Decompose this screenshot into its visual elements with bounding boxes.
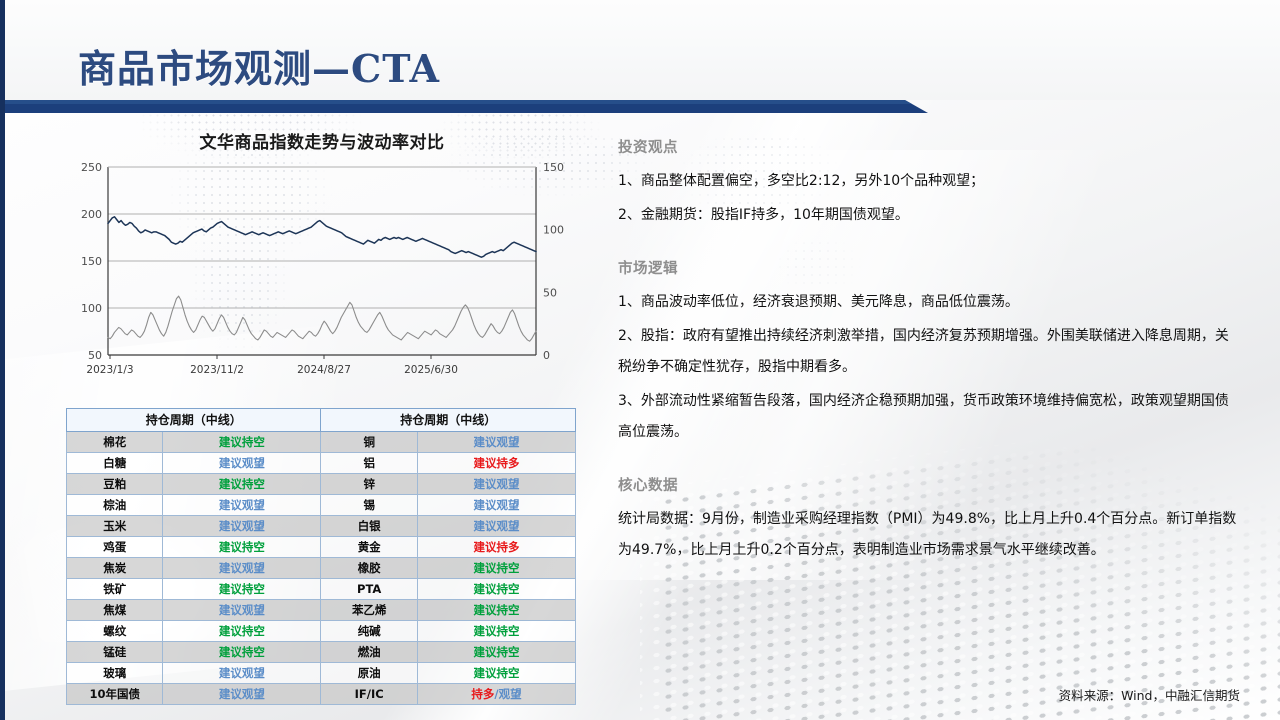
cell-recommendation: 建议持空 xyxy=(163,537,321,558)
cell-recommendation: 建议观望 xyxy=(163,600,321,621)
table-row: 豆粕建议持空锌建议观望 xyxy=(67,474,576,495)
slide-root: 商品市场观测—CTA 文华商品指数走势与波动率对比 50100150200250… xyxy=(0,0,1280,720)
cell-commodity-name: 棉花 xyxy=(67,432,163,453)
cell-commodity-name: 锰硅 xyxy=(67,642,163,663)
table-row: 白糖建议观望铝建议持多 xyxy=(67,453,576,474)
cell-commodity-name: 橡胶 xyxy=(321,558,418,579)
cell-recommendation: 建议持空 xyxy=(417,642,575,663)
left-accent-rail xyxy=(0,0,5,720)
table-row: 玉米建议观望白银建议观望 xyxy=(67,516,576,537)
cell-recommendation: 持多/观望 xyxy=(417,684,575,705)
cell-commodity-name: 白银 xyxy=(321,516,418,537)
cell-recommendation: 建议观望 xyxy=(417,516,575,537)
page-title: 商品市场观测—CTA xyxy=(78,38,440,93)
cell-commodity-name: 燃油 xyxy=(321,642,418,663)
svg-text:2024/8/27: 2024/8/27 xyxy=(297,364,351,376)
recommendation-long: 持多 xyxy=(471,687,494,701)
cell-recommendation: 建议观望 xyxy=(163,516,321,537)
core-data-item-1: 统计局数据：9月份，制造业采购经理指数（PMI）为49.8%，比上月上升0.4个… xyxy=(618,504,1238,566)
cell-recommendation: 建议持空 xyxy=(163,474,321,495)
cell-recommendation: 建议持空 xyxy=(417,621,575,642)
cell-commodity-name: 玻璃 xyxy=(67,663,163,684)
section-title-investment-view: 投资观点 xyxy=(618,136,1238,157)
cell-commodity-name: PTA xyxy=(321,579,418,600)
table-header-row: 持仓周期（中线） 持仓周期（中线） xyxy=(67,409,576,432)
table-row: 螺纹建议持空纯碱建议持空 xyxy=(67,621,576,642)
cell-commodity-name: IF/IC xyxy=(321,684,418,705)
svg-text:50: 50 xyxy=(88,349,102,362)
section-title-core-data: 核心数据 xyxy=(618,474,1238,495)
cell-commodity-name: 锌 xyxy=(321,474,418,495)
market-logic-item-3: 3、外部流动性紧缩暂告段落，国内经济企稳预期加强，货币政策环境维持偏宽松，政策观… xyxy=(618,386,1238,448)
cell-commodity-name: 白糖 xyxy=(67,453,163,474)
table-row: 棉花建议持空铜建议观望 xyxy=(67,432,576,453)
table-row: 焦炭建议观望橡胶建议持空 xyxy=(67,558,576,579)
cell-recommendation: 建议观望 xyxy=(417,474,575,495)
table-head: 持仓周期（中线） 持仓周期（中线） xyxy=(67,409,576,432)
cell-commodity-name: 棕油 xyxy=(67,495,163,516)
table-row: 锰硅建议持空燃油建议持空 xyxy=(67,642,576,663)
market-logic-item-2: 2、股指：政府有望推出持续经济刺激举措，国内经济复苏预期增强。外围美联储进入降息… xyxy=(618,321,1238,383)
svg-text:100: 100 xyxy=(543,224,564,237)
section-title-market-logic: 市场逻辑 xyxy=(618,257,1238,278)
svg-text:50: 50 xyxy=(543,286,557,299)
cell-commodity-name: 焦煤 xyxy=(67,600,163,621)
svg-text:100: 100 xyxy=(81,302,102,315)
svg-text:150: 150 xyxy=(543,161,564,174)
cell-commodity-name: 豆粕 xyxy=(67,474,163,495)
cell-commodity-name: 原油 xyxy=(321,663,418,684)
table-row: 鸡蛋建议持空黄金建议持多 xyxy=(67,537,576,558)
investment-view-item-2: 2、金融期货：股指IF持多，10年期国债观望。 xyxy=(618,200,1238,231)
cell-recommendation: 建议观望 xyxy=(163,453,321,474)
cell-recommendation: 建议观望 xyxy=(417,432,575,453)
investment-view-item-1: 1、商品整体配置偏空，多空比2:12，另外10个品种观望； xyxy=(618,166,1238,197)
cell-commodity-name: 苯乙烯 xyxy=(321,600,418,621)
section-body-investment-view: 1、商品整体配置偏空，多空比2:12，另外10个品种观望； 2、金融期货：股指I… xyxy=(618,166,1238,231)
table-row: 10年国债建议观望IF/IC持多/观望 xyxy=(67,684,576,705)
position-table-wrapper: 持仓周期（中线） 持仓周期（中线） 棉花建议持空铜建议观望白糖建议观望铝建议持多… xyxy=(66,408,576,705)
cell-recommendation: 建议观望 xyxy=(163,558,321,579)
cell-commodity-name: 铜 xyxy=(321,432,418,453)
table-row: 铁矿建议持空PTA建议持空 xyxy=(67,579,576,600)
cell-commodity-name: 玉米 xyxy=(67,516,163,537)
table-header-left: 持仓周期（中线） xyxy=(67,409,321,432)
header-accent-bar xyxy=(0,100,1280,114)
cell-commodity-name: 焦炭 xyxy=(67,558,163,579)
cell-commodity-name: 黄金 xyxy=(321,537,418,558)
cell-commodity-name: 鸡蛋 xyxy=(67,537,163,558)
svg-text:200: 200 xyxy=(81,208,102,221)
section-body-market-logic: 1、商品波动率低位，经济衰退预期、美元降息，商品低位震荡。 2、股指：政府有望推… xyxy=(618,287,1238,448)
cell-recommendation: 建议观望 xyxy=(163,684,321,705)
cell-recommendation: 建议观望 xyxy=(163,663,321,684)
cell-commodity-name: 铁矿 xyxy=(67,579,163,600)
svg-text:150: 150 xyxy=(81,255,102,268)
cell-commodity-name: 锡 xyxy=(321,495,418,516)
table-row: 玻璃建议观望原油建议持空 xyxy=(67,663,576,684)
chart-title: 文华商品指数走势与波动率对比 xyxy=(62,128,582,153)
table-body: 棉花建议持空铜建议观望白糖建议观望铝建议持多豆粕建议持空锌建议观望棕油建议观望锡… xyxy=(67,432,576,705)
section-body-core-data: 统计局数据：9月份，制造业采购经理指数（PMI）为49.8%，比上月上升0.4个… xyxy=(618,504,1238,566)
cell-commodity-name: 铝 xyxy=(321,453,418,474)
svg-text:0: 0 xyxy=(543,349,550,362)
table-row: 棕油建议观望锡建议观望 xyxy=(67,495,576,516)
table-row: 焦煤建议观望苯乙烯建议持空 xyxy=(67,600,576,621)
cell-recommendation: 建议持多 xyxy=(417,537,575,558)
cell-commodity-name: 纯碱 xyxy=(321,621,418,642)
svg-text:2023/1/3: 2023/1/3 xyxy=(86,364,133,376)
cell-recommendation: 建议持空 xyxy=(163,432,321,453)
cell-commodity-name: 螺纹 xyxy=(67,621,163,642)
table-header-right: 持仓周期（中线） xyxy=(321,409,576,432)
chart-plot-area: 501001502002500501001502023/1/32023/11/2… xyxy=(62,159,582,389)
cell-recommendation: 建议持空 xyxy=(417,663,575,684)
source-note: 资料来源：Wind，中融汇信期货 xyxy=(1059,685,1240,704)
commentary-column: 投资观点 1、商品整体配置偏空，多空比2:12，另外10个品种观望； 2、金融期… xyxy=(618,136,1238,570)
cell-commodity-name: 10年国债 xyxy=(67,684,163,705)
svg-text:2025/6/30: 2025/6/30 xyxy=(404,364,458,376)
cell-recommendation: 建议持空 xyxy=(417,600,575,621)
cell-recommendation: 建议持空 xyxy=(417,558,575,579)
position-table: 持仓周期（中线） 持仓周期（中线） 棉花建议持空铜建议观望白糖建议观望铝建议持多… xyxy=(66,408,576,705)
cell-recommendation: 建议持空 xyxy=(163,579,321,600)
market-logic-item-1: 1、商品波动率低位，经济衰退预期、美元降息，商品低位震荡。 xyxy=(618,287,1238,318)
chart-svg: 501001502002500501001502023/1/32023/11/2… xyxy=(62,159,582,389)
cell-recommendation: 建议观望 xyxy=(417,495,575,516)
cell-recommendation: 建议持空 xyxy=(163,621,321,642)
cell-recommendation: 建议持空 xyxy=(417,579,575,600)
cell-recommendation: 建议持空 xyxy=(163,642,321,663)
svg-text:2023/11/2: 2023/11/2 xyxy=(190,364,244,376)
svg-text:250: 250 xyxy=(81,161,102,174)
commodity-index-chart: 文华商品指数走势与波动率对比 5010015020025005010015020… xyxy=(62,128,582,396)
cell-recommendation: 建议观望 xyxy=(163,495,321,516)
cell-recommendation: 建议持多 xyxy=(417,453,575,474)
recommendation-wait: 观望 xyxy=(499,687,522,701)
